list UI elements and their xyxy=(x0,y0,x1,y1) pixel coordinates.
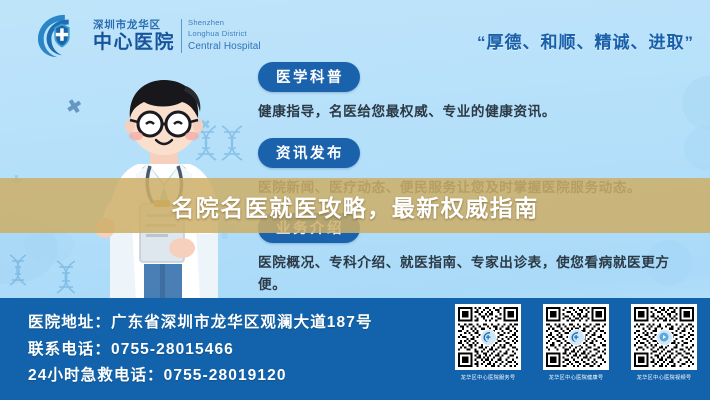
logo-divider xyxy=(181,19,182,53)
qr-caption-service-account: 龙华区中心医院服务号 xyxy=(453,373,524,381)
qr-item-service-account[interactable]: 龙华区中心医院服务号 xyxy=(452,304,524,381)
qr-item-video-account[interactable]: 龙华区中心医院视频号 xyxy=(628,304,700,381)
qr-code-group: 龙华区中心医院服务号 xyxy=(452,304,700,381)
footer-emergency-phone: 24小时急救电话：0755-28019120 xyxy=(28,363,373,390)
logo-name-line1: 深圳市龙华区 xyxy=(93,19,175,32)
dna-helix-icon xyxy=(52,258,86,296)
dna-helix-icon xyxy=(6,252,36,288)
qr-code-icon xyxy=(631,304,697,370)
section-text-services-intro: 医院概况、专科介绍、就医指南、专家出诊表，使您看病就医更方便。 xyxy=(258,252,694,296)
footer-address: 医院地址：广东省深圳市龙华区观澜大道187号 xyxy=(28,310,373,337)
section-badge-medical-science: 医学科普 xyxy=(258,62,360,92)
logo-en-line3: Central Hospital xyxy=(188,40,261,54)
footer-phone: 联系电话：0755-28015466 xyxy=(28,337,373,364)
qr-caption-video-account: 龙华区中心医院视频号 xyxy=(629,373,700,381)
qr-center-logo-icon xyxy=(480,329,497,346)
section-badge-news-release: 资讯发布 xyxy=(258,138,360,168)
qr-code-icon xyxy=(543,304,609,370)
section-text-medical-science: 健康指导，名医给您最权威、专业的健康资讯。 xyxy=(258,101,694,123)
logo-en-line2: Longhua District xyxy=(188,29,261,40)
headline-title: 名院名医就医攻略，最新权威指南 xyxy=(0,178,710,233)
footer-contact-info: 医院地址：广东省深圳市龙华区观澜大道187号 联系电话：0755-2801546… xyxy=(28,310,373,390)
hospital-cross-swoosh-logo-icon xyxy=(36,12,86,60)
qr-code-icon xyxy=(455,304,521,370)
qr-center-logo-icon xyxy=(568,329,585,346)
logo-name-line2: 中心医院 xyxy=(93,32,175,54)
qr-center-logo-icon xyxy=(656,329,673,346)
hospital-promo-poster: ✖ ✚ ✚ ✖ ✚ xyxy=(0,0,710,400)
hospital-logo: 深圳市龙华区 中心医院 Shenzhen Longhua District Ce… xyxy=(36,12,261,60)
hospital-slogan: “厚德、和顺、精诚、进取” xyxy=(477,28,694,53)
logo-english-name: Shenzhen Longhua District Central Hospit… xyxy=(188,18,261,54)
footer-bar: 医院地址：广东省深圳市龙华区观澜大道187号 联系电话：0755-2801546… xyxy=(0,298,710,400)
medical-cross-icon: ✖ xyxy=(64,97,84,119)
section-medical-science: 医学科普 健康指导，名医给您最权威、专业的健康资讯。 xyxy=(258,62,694,123)
qr-item-health-account[interactable]: 龙华区中心医院健康号 xyxy=(540,304,612,381)
logo-en-line1: Shenzhen xyxy=(188,18,261,29)
qr-caption-health-account: 龙华区中心医院健康号 xyxy=(541,373,612,381)
